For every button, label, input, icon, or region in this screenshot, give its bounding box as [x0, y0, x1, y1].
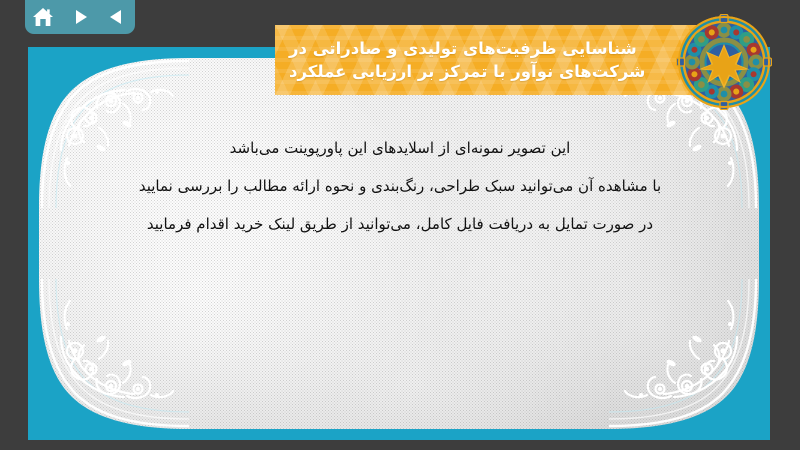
- slide-title-line-2: شرکت‌های نوآور با تمرکز بر ارزیابی عملکر…: [289, 60, 645, 83]
- navigation-toolbar: [25, 0, 135, 34]
- body-line-3: در صورت تمایل به دریافت فایل کامل، می‌تو…: [40, 206, 760, 244]
- previous-slide-button[interactable]: [104, 5, 130, 29]
- home-button[interactable]: [30, 5, 56, 29]
- body-line-2: با مشاهده آن می‌توانید سبک طراحی، رنگ‌بن…: [40, 168, 760, 206]
- slide-title-banner: شناسایی ظرفیت‌های تولیدی و صادراتی در شر…: [275, 25, 720, 95]
- triangle-left-icon: [107, 7, 127, 27]
- triangle-right-icon: [70, 7, 90, 27]
- slide-title-line-1: شناسایی ظرفیت‌های تولیدی و صادراتی در: [289, 37, 637, 60]
- home-icon: [32, 7, 54, 28]
- body-line-1: این تصویر نمونه‌ای از اسلایدهای این پاور…: [40, 130, 760, 168]
- halftone-texture: [39, 58, 759, 429]
- slide-viewer: شناسایی ظرفیت‌های تولیدی و صادراتی در شر…: [0, 0, 800, 450]
- slide-body-text: این تصویر نمونه‌ای از اسلایدهای این پاور…: [40, 130, 760, 243]
- next-slide-button[interactable]: [67, 5, 93, 29]
- slide-frame: [28, 47, 770, 440]
- slide-canvas: [39, 58, 759, 429]
